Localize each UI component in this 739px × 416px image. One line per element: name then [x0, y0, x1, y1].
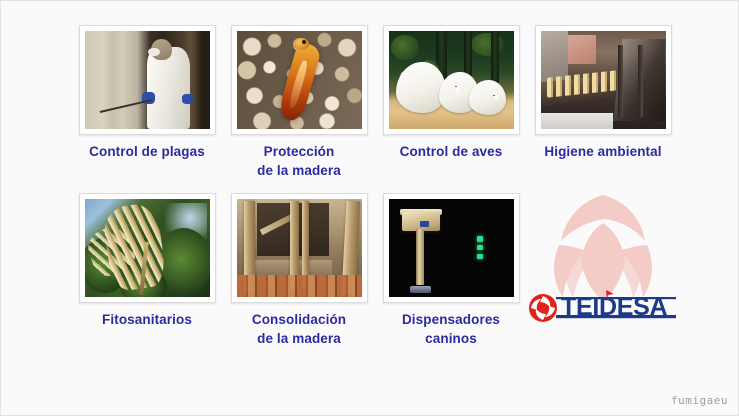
- larva-head-shape: [293, 38, 309, 50]
- support-post-shape: [618, 45, 623, 118]
- indicator-dot-icon: [477, 236, 483, 241]
- service-label: Dispensadores caninos: [375, 310, 527, 348]
- pigeon-body-shape: [469, 80, 507, 115]
- service-card-dispensadores-caninos[interactable]: Dispensadores caninos: [375, 193, 527, 348]
- service-card-consolidacion-de-la-madera[interactable]: Consolidación de la madera: [223, 193, 375, 348]
- service-card-fitosanitarios[interactable]: Fitosanitarios: [71, 193, 223, 329]
- services-row-1: Control de plagas Protección de la mader…: [71, 25, 681, 193]
- indicator-dot-icon: [477, 245, 483, 250]
- pest-control-image: [85, 31, 210, 129]
- service-label-line-2: caninos: [375, 329, 527, 348]
- service-label-line-1: Fitosanitarios: [71, 310, 223, 329]
- technician-suit-shape: [147, 47, 190, 129]
- service-card-proteccion-de-la-madera[interactable]: Protección de la madera: [223, 25, 375, 180]
- teidesa-wordmark-text: TEIDESA: [561, 293, 667, 321]
- service-label: Control de plagas: [71, 142, 223, 161]
- service-label-line-1: Dispensadores: [375, 310, 527, 329]
- factory-floor-shape: [541, 113, 614, 129]
- service-label: Control de aves: [375, 142, 527, 161]
- dispenser-slot-shape: [420, 221, 429, 228]
- services-grid: Control de plagas Protección de la mader…: [71, 25, 681, 361]
- service-label-line-1: Protección: [223, 142, 375, 161]
- service-card-control-de-plagas[interactable]: Control de plagas: [71, 25, 223, 161]
- image-frame: [231, 193, 368, 303]
- service-card-higiene-ambiental[interactable]: Higiene ambiental: [527, 25, 679, 161]
- technician-mask-shape: [148, 48, 159, 57]
- larva-body-shape: [276, 41, 322, 123]
- service-label: Protección de la madera: [223, 142, 375, 180]
- service-label: Higiene ambiental: [527, 142, 679, 161]
- spray-wand-shape: [99, 100, 151, 114]
- pigeon-body-shape: [396, 62, 446, 113]
- image-frame: [231, 25, 368, 135]
- service-label-line-1: Consolidación: [223, 310, 375, 329]
- dispenser-base-shape: [410, 286, 431, 293]
- larva-eye-shape: [302, 40, 306, 44]
- brick-rubble-shape: [237, 275, 362, 297]
- service-card-control-de-aves[interactable]: Control de aves: [375, 25, 527, 161]
- service-label-line-2: de la madera: [223, 329, 375, 348]
- service-label-line-1: Higiene ambiental: [527, 142, 679, 161]
- canine-dispenser-image: [389, 199, 514, 297]
- image-frame: [383, 25, 520, 135]
- image-frame: [79, 25, 216, 135]
- services-row-2: Fitosanitarios: [71, 193, 681, 361]
- service-label: Fitosanitarios: [71, 310, 223, 329]
- phytosanitary-image: [85, 199, 210, 297]
- teidesa-watermark-icon: [529, 189, 677, 305]
- teidesa-logo[interactable]: TEIDESA: [527, 193, 679, 343]
- industrial-hygiene-image: [541, 31, 666, 129]
- teidesa-wordmark-icon: TEIDESA: [528, 289, 678, 325]
- pigeons-image: [389, 31, 514, 129]
- image-frame: [535, 25, 672, 135]
- background-shadow-shape: [190, 31, 210, 129]
- wood-consolidation-image: [237, 199, 362, 297]
- dispenser-post-shape: [416, 229, 424, 285]
- tree-trunk-shape: [491, 31, 499, 88]
- image-frame: [79, 193, 216, 303]
- indicator-dot-icon: [477, 254, 483, 259]
- foliage-shape: [391, 35, 419, 60]
- image-frame: [383, 193, 520, 303]
- machine-housing-shape: [568, 35, 596, 64]
- service-label: Consolidación de la madera: [223, 310, 375, 348]
- service-label-line-1: Control de plagas: [71, 142, 223, 161]
- wood-larva-image: [237, 31, 362, 129]
- service-label-line-1: Control de aves: [375, 142, 527, 161]
- source-watermark: fumigaeu: [671, 394, 728, 407]
- foliage-shape: [471, 33, 504, 57]
- page-root: Control de plagas Protección de la mader…: [0, 0, 739, 416]
- service-label-line-2: de la madera: [223, 161, 375, 180]
- support-post-shape: [638, 45, 643, 118]
